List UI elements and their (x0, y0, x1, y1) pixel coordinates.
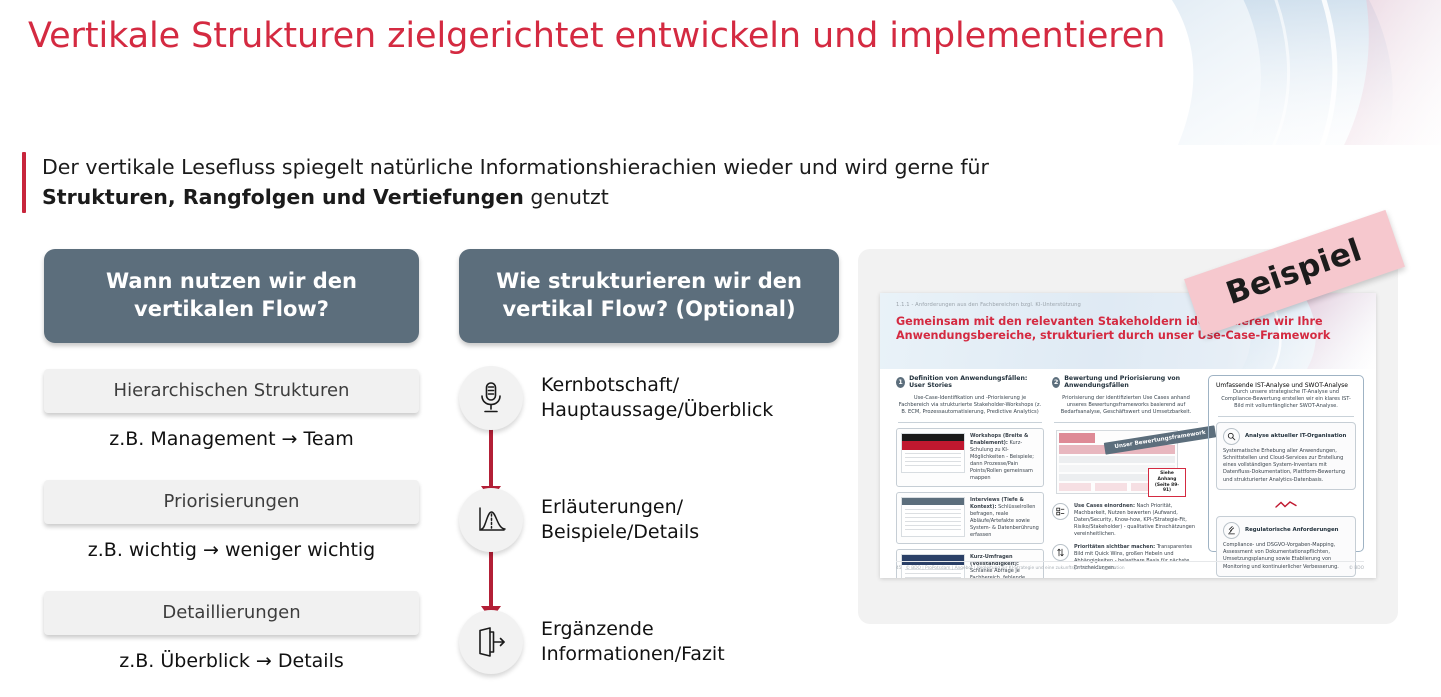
list-priority-icon (1052, 503, 1069, 520)
flow-step-1-line1: Kernbotschaft/ (541, 374, 679, 396)
example-priorisierungen: z.B. wichtig → weniger wichtig (44, 539, 419, 561)
subtitle-block: Der vertikale Lesefluss spiegelt natürli… (22, 152, 989, 213)
subtitle-line-1: Der vertikale Lesefluss spiegelt natürli… (42, 155, 989, 179)
thumbnail-col3-box-1: Analyse aktueller IT-Organisation System… (1216, 422, 1356, 490)
siehe-anhang-callout: Siehe Anhang (Seite 89-91) (1148, 468, 1186, 498)
thumbnail-col1-card-1-body: Kurz-Schulung zu KI-Möglichkeiten - Beis… (970, 440, 1034, 481)
flow-step-2-line1: Erläuterungen/ (541, 496, 683, 518)
flow-step-2-text: Erläuterungen/ Beispiele/Details (541, 495, 699, 545)
column2-header-box: Wie strukturieren wir den vertikal Flow?… (459, 249, 839, 343)
subtitle-bold-phrase: Strukturen, Rangfolgen und Vertiefungen (42, 185, 524, 209)
column1-group-3: Detaillierungen z.B. Überblick → Details (44, 591, 419, 672)
flow-step-3[interactable]: Ergänzende Informationen/Fazit (459, 609, 839, 675)
thumbnail-col2-item-1: Use Cases einordnen: Nach Priorität, Mac… (1052, 503, 1200, 538)
thumbnail-footer: 45 © BDO | ProPotsdam | Angebot | Beglei… (896, 561, 1364, 571)
thumbnail-col3-box-1-title: Analyse aktueller IT-Organisation (1245, 433, 1346, 439)
column1-group-1: Hierarchischen Strukturen z.B. Managemen… (44, 369, 419, 450)
thumbnail-col1-card-2: Interviews (Tiefe & Kontext): Schlüsselr… (896, 492, 1044, 544)
thumbnail-col2-lead: Priorisierung der identifizierten Use Ca… (1054, 395, 1198, 423)
sort-arrows-icon (1052, 544, 1069, 561)
vertical-flow-list: Kernbotschaft/ Hauptaussage/Überblick Er… (459, 365, 839, 675)
thumbnail-col2-header-text: Bewertung und Priorisierung von Anwendun… (1064, 375, 1200, 389)
magnifier-icon (1223, 428, 1240, 445)
thumbnail-col1-card-1-text: Workshops (Breite & Enablement): Kurz-Sc… (970, 433, 1039, 482)
example-slide-thumbnail[interactable]: 1.1.1 - Anforderungen aus den Fachbereic… (880, 293, 1376, 578)
thumbnail-col3-header: Umfassende IST-Analyse und SWOT-Analyse (1216, 382, 1356, 389)
flow-step-1-text: Kernbotschaft/ Hauptaussage/Überblick (541, 373, 773, 423)
example-card: 1.1.1 - Anforderungen aus den Fachbereic… (858, 249, 1398, 624)
gavel-icon (1223, 522, 1240, 539)
column-when-to-use: Wann nutzen wir den vertikalen Flow? Hie… (44, 249, 419, 672)
thumbnail-column-2: 2 Bewertung und Priorisierung von Anwend… (1052, 375, 1200, 552)
flow-step-2-line2: Beispiele/Details (541, 521, 699, 543)
thumbnail-eyebrow: 1.1.1 - Anforderungen aus den Fachbereic… (896, 302, 1081, 308)
thumbnail-col1-header-text: Definition von Anwendungsfällen: User St… (909, 375, 1044, 389)
flow-step-2[interactable]: Erläuterungen/ Beispiele/Details (459, 487, 839, 553)
red-accent-bar (22, 152, 26, 213)
thumbnail-title: Gemeinsam mit den relevanten Stakeholder… (896, 315, 1366, 344)
flow-step-3-text: Ergänzende Informationen/Fazit (541, 617, 725, 667)
flow-step-3-line1: Ergänzende (541, 618, 654, 640)
microphone-icon (459, 366, 523, 430)
thumbnail-col1-card-2-text: Interviews (Tiefe & Kontext): Schlüsselr… (970, 497, 1039, 539)
column-how-to-structure: Wie strukturieren wir den vertikal Flow?… (459, 249, 839, 675)
column1-group-2: Priorisierungen z.B. wichtig → weniger w… (44, 480, 419, 561)
column1-header-box: Wann nutzen wir den vertikalen Flow? (44, 249, 419, 343)
thumbnail-col2-item-1-text: Use Cases einordnen: Nach Priorität, Mac… (1074, 503, 1200, 538)
bell-curve-chart-icon (459, 488, 523, 552)
flow-step-3-line2: Informationen/Fazit (541, 643, 725, 665)
list-item-detaillierungen[interactable]: Detaillierungen (44, 591, 419, 635)
flow-connector-2 (489, 549, 493, 609)
list-item-hierarchische-strukturen[interactable]: Hierarchischen Strukturen (44, 369, 419, 413)
example-detaillierungen: z.B. Überblick → Details (44, 650, 419, 672)
thumbnail-col1-lead: Use-Case-Identifikation und -Priorisieru… (898, 395, 1042, 423)
subtitle-tail: genutzt (524, 185, 609, 209)
flow-connector-1 (489, 429, 493, 489)
thumbnail-footer-left: 45 © BDO | ProPotsdam | Angebot | Beglei… (896, 566, 1125, 571)
thumbnail-col3-box-1-text: Systematische Erhebung aller Anwendungen… (1223, 448, 1349, 484)
thumbnail-footer-text: © BDO | ProPotsdam | Angebot | Begleitun… (906, 566, 1125, 571)
thumbnail-column-3: Umfassende IST-Analyse und SWOT-Analyse … (1208, 375, 1364, 552)
page-title: Vertikale Strukturen zielgerichtet entwi… (28, 16, 1165, 56)
step-number-2: 2 (1052, 377, 1060, 388)
thumbnail-col2-item-2-title: Prioritäten sichtbar machen: (1074, 544, 1155, 550)
thumbnail-col3-box-2-title: Regulatorische Anforderungen (1245, 527, 1338, 533)
thumbnail-col2-header: 2 Bewertung und Priorisierung von Anwend… (1052, 375, 1200, 389)
thumbnail-framework-matrix: Unser Bewertungsframework Siehe Anhang (… (1052, 428, 1200, 498)
thumbnail-col1-card-1: Workshops (Breite & Enablement): Kurz-Sc… (896, 428, 1044, 487)
thumbnail-col1-header: 1 Definition von Anwendungsfällen: User … (896, 375, 1044, 389)
thumbnail-body: 1 Definition von Anwendungsfällen: User … (896, 375, 1364, 552)
exit-door-arrow-icon (459, 610, 523, 674)
red-scribble-icon (1216, 494, 1356, 513)
flow-step-1[interactable]: Kernbotschaft/ Hauptaussage/Überblick (459, 365, 839, 431)
thumbnail-col2-item-1-title: Use Cases einordnen: (1074, 503, 1135, 509)
mini-screenshot-2 (901, 497, 965, 537)
flow-step-1-line2: Hauptaussage/Überblick (541, 399, 773, 421)
thumbnail-column-1: 1 Definition von Anwendungsfällen: User … (896, 375, 1044, 552)
thumbnail-page-number: 45 (896, 566, 901, 571)
subtitle-text: Der vertikale Lesefluss spiegelt natürli… (42, 152, 989, 213)
mini-screenshot-1 (901, 433, 965, 473)
example-hierarchische-strukturen: z.B. Management → Team (44, 428, 419, 450)
list-item-priorisierungen[interactable]: Priorisierungen (44, 480, 419, 524)
step-number-1: 1 (896, 377, 905, 388)
thumbnail-col3-lead: Durch unsere strategische IT-Analyse und… (1218, 389, 1354, 417)
slide-root: Vertikale Strukturen zielgerichtet entwi… (0, 0, 1441, 697)
thumbnail-footer-right: © BDO (1349, 566, 1364, 571)
